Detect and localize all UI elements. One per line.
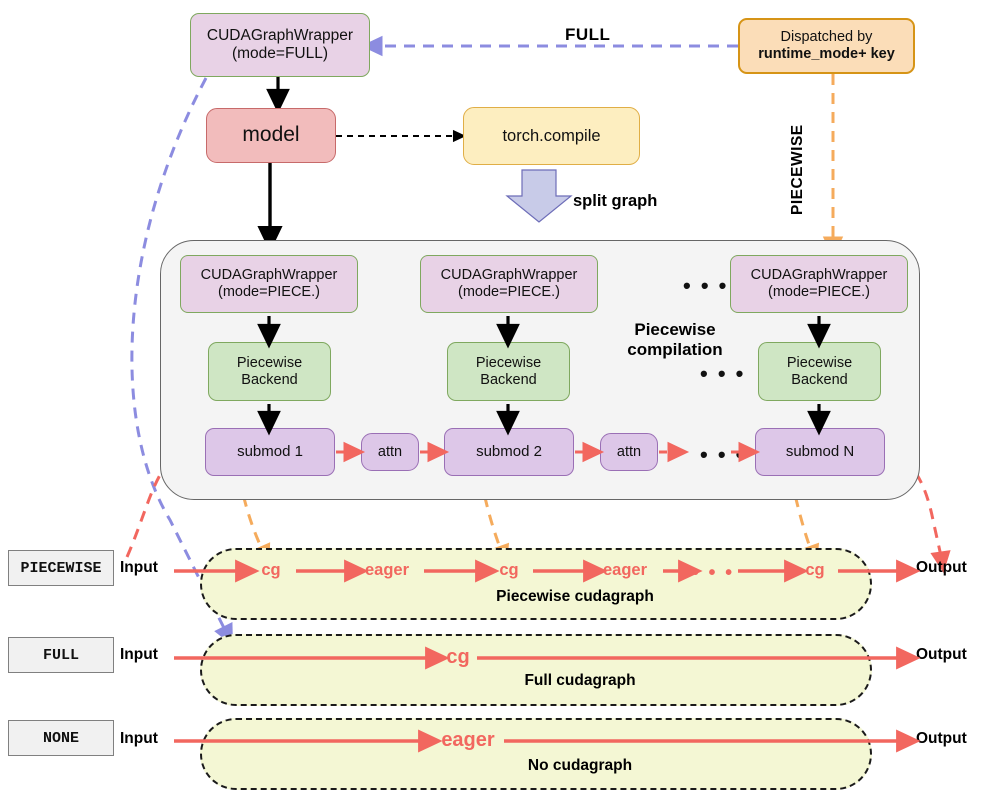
wrapper-piece-1-line2: (mode=PIECE.) <box>218 284 320 301</box>
piecewise-backend-box-2[interactable]: Piecewise Backend <box>447 342 570 401</box>
piecewise-step-ellipsis: • • • <box>692 563 734 583</box>
piecewise-step-1: eager <box>352 562 422 579</box>
mode-chip-none[interactable]: NONE <box>8 720 114 756</box>
lane-full <box>200 634 872 706</box>
split-graph-arrow <box>507 170 571 222</box>
wrapper-full-line1: CUDAGraphWrapper <box>207 27 353 45</box>
lane-caption-full: Full cudagraph <box>490 672 670 690</box>
piecewise-backend-box-1[interactable]: Piecewise Backend <box>208 342 331 401</box>
piecewise-backend-box-n[interactable]: Piecewise Backend <box>758 342 881 401</box>
cudagraph-wrapper-piece-box-2[interactable]: CUDAGraphWrapper (mode=PIECE.) <box>420 255 598 313</box>
attn-1-label: attn <box>378 444 402 461</box>
input-label-full: Input <box>120 646 158 664</box>
submod-1-label: submod 1 <box>237 443 303 460</box>
wrapper-piece-n-line2: (mode=PIECE.) <box>768 284 870 301</box>
wrapper-piece-1-line1: CUDAGraphWrapper <box>201 267 338 284</box>
backend-2-line2: Backend <box>480 372 536 389</box>
output-label-none: Output <box>916 730 967 748</box>
submod-box-2[interactable]: submod 2 <box>444 428 574 476</box>
submod-box-n[interactable]: submod N <box>755 428 885 476</box>
ellipsis-wrapper-row: • • • <box>683 275 728 297</box>
wrapper-full-line2: (mode=FULL) <box>232 45 328 63</box>
cudagraph-wrapper-full-box[interactable]: CUDAGraphWrapper (mode=FULL) <box>190 13 370 77</box>
input-label-piecewise: Input <box>120 559 158 577</box>
wrapper-piece-2-line1: CUDAGraphWrapper <box>441 267 578 284</box>
model-box[interactable]: model <box>206 108 336 163</box>
none-step-0: eager <box>430 730 506 750</box>
backend-n-line1: Piecewise <box>787 355 852 372</box>
dispatch-box[interactable]: Dispatched by runtime_mode+ key <box>738 18 915 74</box>
mode-chip-piecewise[interactable]: PIECEWISE <box>8 550 114 586</box>
piecewise-title-line2: compilation <box>580 340 770 360</box>
cudagraph-wrapper-piece-box-1[interactable]: CUDAGraphWrapper (mode=PIECE.) <box>180 255 358 313</box>
attn-2-label: attn <box>617 444 641 461</box>
piecewise-step-0: cg <box>248 562 294 579</box>
backend-n-line2: Backend <box>791 372 847 389</box>
submod-box-1[interactable]: submod 1 <box>205 428 335 476</box>
mode-chip-full[interactable]: FULL <box>8 637 114 673</box>
wrapper-piece-2-line2: (mode=PIECE.) <box>458 284 560 301</box>
submod-2-label: submod 2 <box>476 443 542 460</box>
cudagraph-wrapper-piece-box-n[interactable]: CUDAGraphWrapper (mode=PIECE.) <box>730 255 908 313</box>
ellipsis-backend-row: • • • <box>700 363 745 385</box>
dispatch-line1: Dispatched by <box>781 29 873 46</box>
lane-caption-piecewise: Piecewise cudagraph <box>450 588 700 606</box>
edge-label-full: FULL <box>565 25 610 45</box>
full-step-0: cg <box>438 647 478 667</box>
piecewise-compilation-title: Piecewise compilation <box>580 320 770 361</box>
submod-n-label: submod N <box>786 443 854 460</box>
edge-label-piecewise: PIECEWISE <box>789 90 807 215</box>
torch-compile-label: torch.compile <box>502 127 600 146</box>
piecewise-step-3: eager <box>590 562 660 579</box>
piecewise-step-5: cg <box>792 562 838 579</box>
wrapper-piece-n-line1: CUDAGraphWrapper <box>751 267 888 284</box>
input-label-none: Input <box>120 730 158 748</box>
attn-box-1[interactable]: attn <box>361 433 419 471</box>
attn-box-2[interactable]: attn <box>600 433 658 471</box>
piecewise-step-2: cg <box>486 562 532 579</box>
diagram-canvas: Piecewise compilation CUDAGraphWrapper (… <box>0 0 985 800</box>
output-label-full: Output <box>916 646 967 664</box>
backend-1-line2: Backend <box>241 372 297 389</box>
lane-none <box>200 718 872 790</box>
ellipsis-submod-row: • • • <box>700 444 745 466</box>
model-label: model <box>242 123 299 147</box>
output-label-piecewise: Output <box>916 559 967 577</box>
torch-compile-box[interactable]: torch.compile <box>463 107 640 165</box>
dispatch-line2: runtime_mode+ key <box>758 46 895 63</box>
lane-piecewise <box>200 548 872 620</box>
lane-caption-none: No cudagraph <box>490 757 670 775</box>
backend-1-line1: Piecewise <box>237 355 302 372</box>
backend-2-line1: Piecewise <box>476 355 541 372</box>
piecewise-title-line1: Piecewise <box>580 320 770 340</box>
split-graph-label: split graph <box>573 192 657 211</box>
